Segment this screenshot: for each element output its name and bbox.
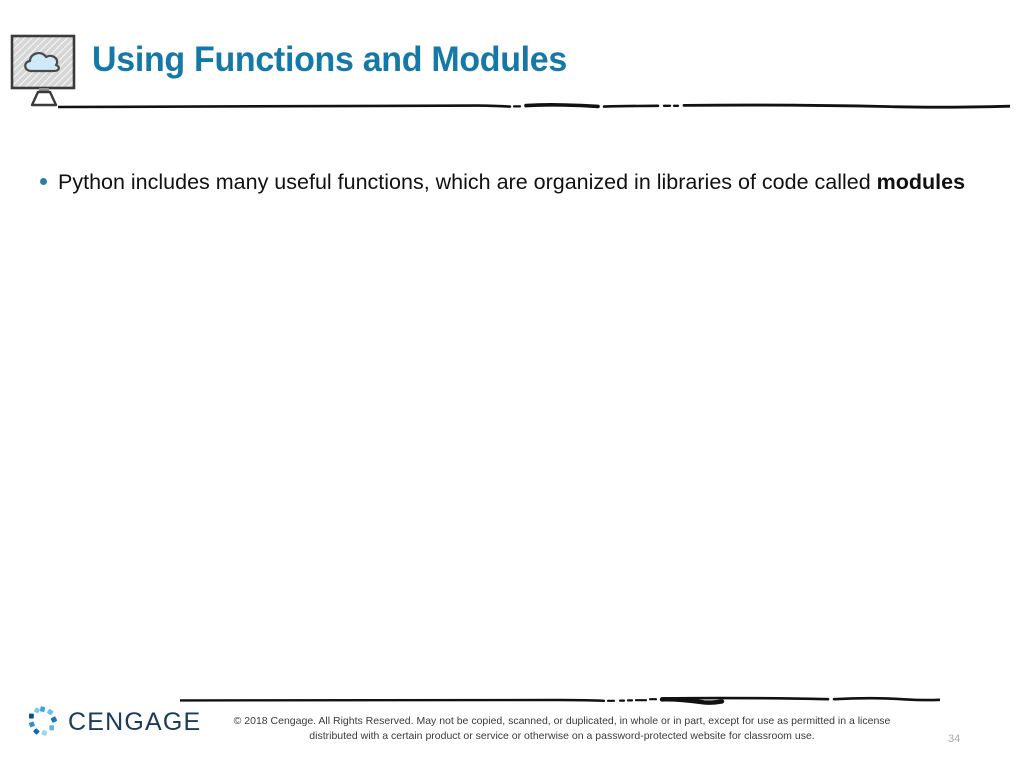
list-item: Python includes many useful functions, w… xyxy=(40,168,988,197)
list-item-text: Python includes many useful functions, w… xyxy=(58,168,988,197)
slide-canvas: Using Functions and Modules Python inclu… xyxy=(0,0,1024,768)
copyright-line-2: distributed with a certain product or se… xyxy=(188,729,936,744)
copyright-notice: © 2018 Cengage. All Rights Reserved. May… xyxy=(188,714,936,744)
copyright-line-1: © 2018 Cengage. All Rights Reserved. May… xyxy=(188,714,936,729)
list-item-text-emphasis: modules xyxy=(877,170,965,194)
bullet-marker-icon xyxy=(40,178,58,185)
cengage-burst-icon xyxy=(26,705,60,739)
cengage-logo: CENGAGE xyxy=(26,703,201,741)
footer-divider xyxy=(180,690,940,708)
list-item-text-lead: Python includes many useful functions, w… xyxy=(58,170,877,194)
page-number: 34 xyxy=(948,733,960,745)
page-title: Using Functions and Modules xyxy=(92,40,567,80)
title-divider xyxy=(58,96,1010,114)
body-content: Python includes many useful functions, w… xyxy=(40,168,988,197)
cengage-wordmark: CENGAGE xyxy=(68,708,201,737)
